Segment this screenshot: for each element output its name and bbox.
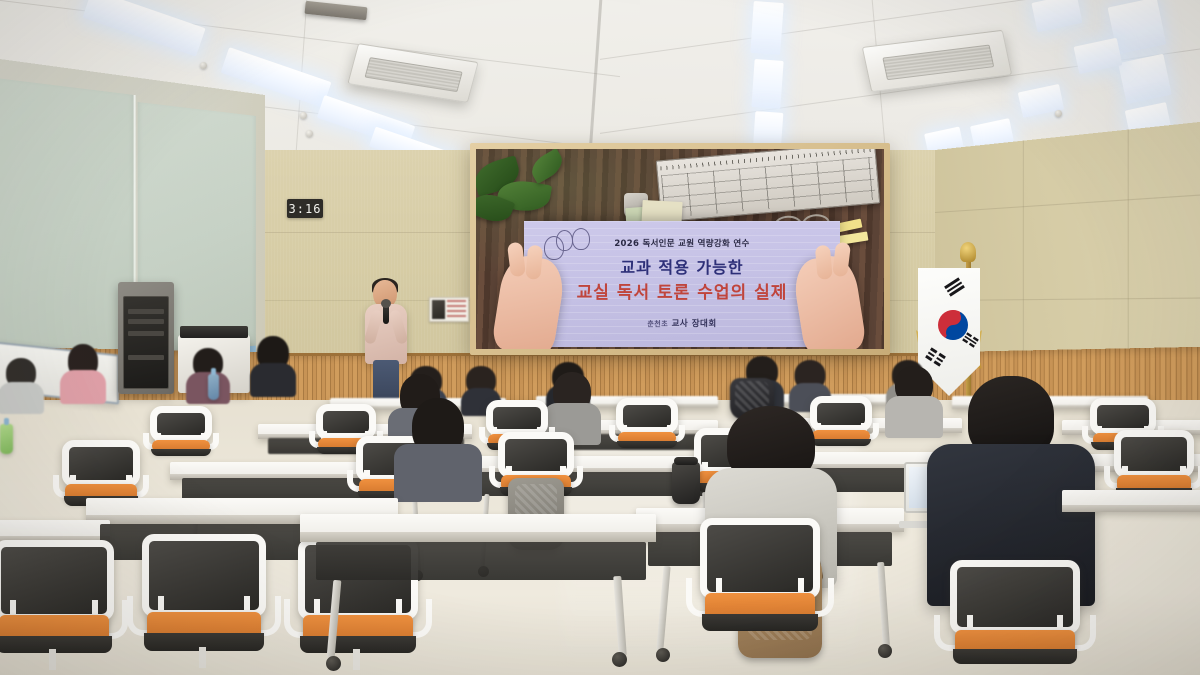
slide-title-line1: 교과 적용 가능한 xyxy=(524,254,840,278)
tumbler xyxy=(672,462,700,504)
slide-title-line2: 교실 독서 토론 수업의 실제 xyxy=(524,278,840,303)
sprinkler-head xyxy=(300,112,307,119)
window-roller-blinds[interactable] xyxy=(0,77,134,367)
flag-finial-icon xyxy=(960,242,976,262)
projection-screen: 2026 독서인문 교원 역량강화 연수 교과 적용 가능한 교실 독서 토론 … xyxy=(476,149,884,349)
slide-title-paper: 2026 독서인문 교원 역량강화 연수 교과 적용 가능한 교실 독서 토론 … xyxy=(524,221,840,347)
trigram-gon-icon xyxy=(925,347,946,366)
attendee xyxy=(62,344,104,396)
trigram-geon-icon xyxy=(944,277,965,296)
chair[interactable] xyxy=(150,406,212,464)
trigram-gam-icon xyxy=(962,332,979,347)
sprinkler-head xyxy=(200,62,207,69)
lecture-hall-photo: 2026 독서인문 교원 역량강화 연수 교과 적용 가능한 교실 독서 토론 … xyxy=(0,0,1200,675)
taeguk-symbol-icon xyxy=(938,310,968,340)
microphone xyxy=(383,304,389,324)
chair[interactable] xyxy=(616,398,678,456)
water-bottle xyxy=(208,374,219,400)
water-bottle xyxy=(0,424,13,454)
slide-leaves-decoration xyxy=(476,151,590,229)
ceiling-light xyxy=(751,59,783,109)
attendee xyxy=(0,358,42,408)
sprinkler-head xyxy=(306,130,313,137)
slide-footer-name: 교사 장대회 xyxy=(672,319,717,329)
chair[interactable] xyxy=(142,534,266,668)
slide-footer-org: 춘천초 xyxy=(647,320,668,328)
chair[interactable] xyxy=(0,540,114,670)
sprinkler-head xyxy=(1055,110,1062,117)
wall-digital-clock: 3:16 xyxy=(287,199,323,218)
wall-poster xyxy=(429,297,469,322)
ceiling-light xyxy=(750,1,784,55)
clock-time: 3:16 xyxy=(289,202,322,216)
chair[interactable] xyxy=(700,518,820,648)
slide-subtitle: 2026 독서인문 교원 역량강화 연수 xyxy=(524,237,840,249)
table-row xyxy=(1062,490,1200,512)
attendee xyxy=(400,398,476,494)
av-rack xyxy=(118,282,174,394)
attendee xyxy=(888,366,940,432)
slide-footer: 춘천초 교사 장대회 xyxy=(524,317,840,329)
projection-screen-frame: 2026 독서인문 교원 역량강화 연수 교과 적용 가능한 교실 독서 토론 … xyxy=(470,143,890,355)
table-row xyxy=(300,514,656,542)
attendee xyxy=(252,336,294,392)
chair[interactable] xyxy=(950,560,1080,675)
